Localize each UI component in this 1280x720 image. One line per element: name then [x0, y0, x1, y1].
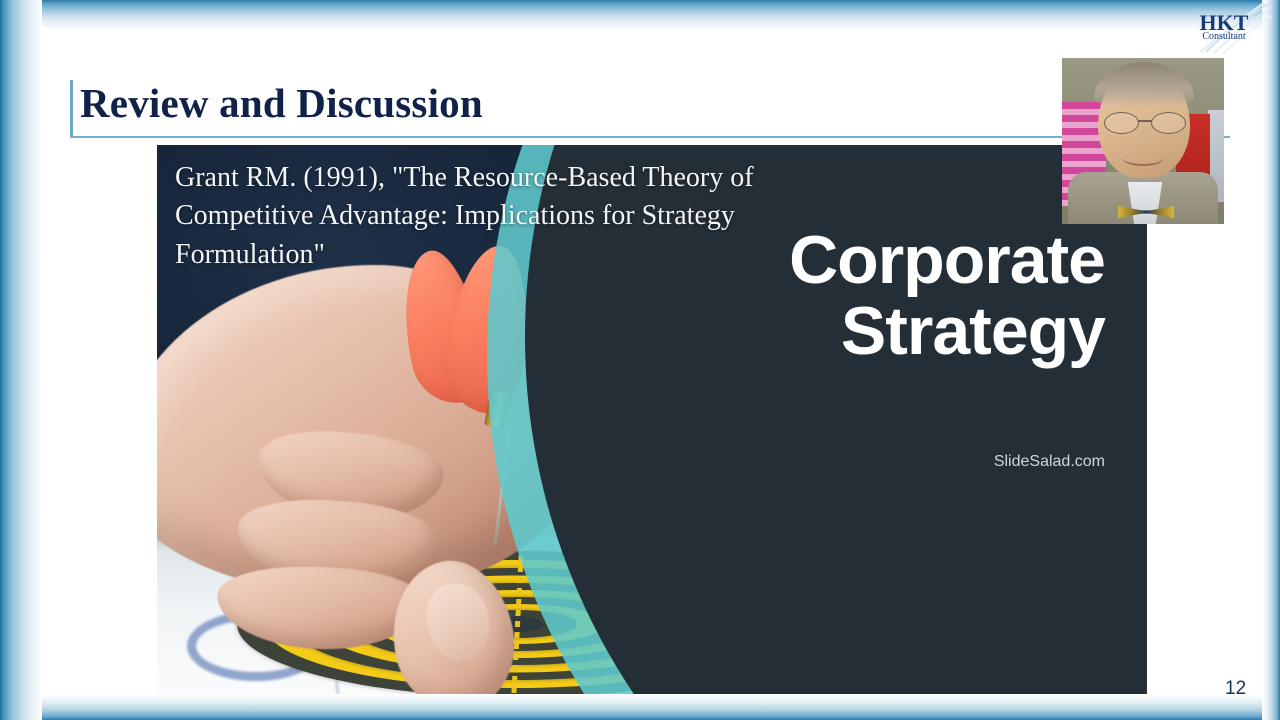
slide-number: 12 [1225, 678, 1246, 700]
image-headline: Corporate Strategy [545, 225, 1105, 366]
frame-top-border [0, 0, 1280, 30]
slidesalad-watermark: SlideSalad.com [994, 453, 1105, 471]
logo-sub-text: Consultant [1176, 32, 1272, 42]
frame-right-border [1262, 0, 1280, 720]
presentation-slide: Grant RM. (1991), "The Resource-Based Th… [0, 0, 1280, 720]
frame-left-border [0, 0, 42, 720]
portrait-glasses [1102, 112, 1188, 132]
headline-line-2: Strategy [545, 296, 1105, 367]
hkt-consultant-logo: HKT Consultant [1176, 2, 1272, 54]
page-title: Review and Discussion [80, 79, 483, 127]
speaker-portrait [1062, 58, 1224, 224]
title-underline-rule [70, 136, 1230, 138]
headline-line-1: Corporate [545, 225, 1105, 296]
slide-content-image: Grant RM. (1991), "The Resource-Based Th… [157, 145, 1147, 703]
title-accent-bar [70, 80, 73, 136]
